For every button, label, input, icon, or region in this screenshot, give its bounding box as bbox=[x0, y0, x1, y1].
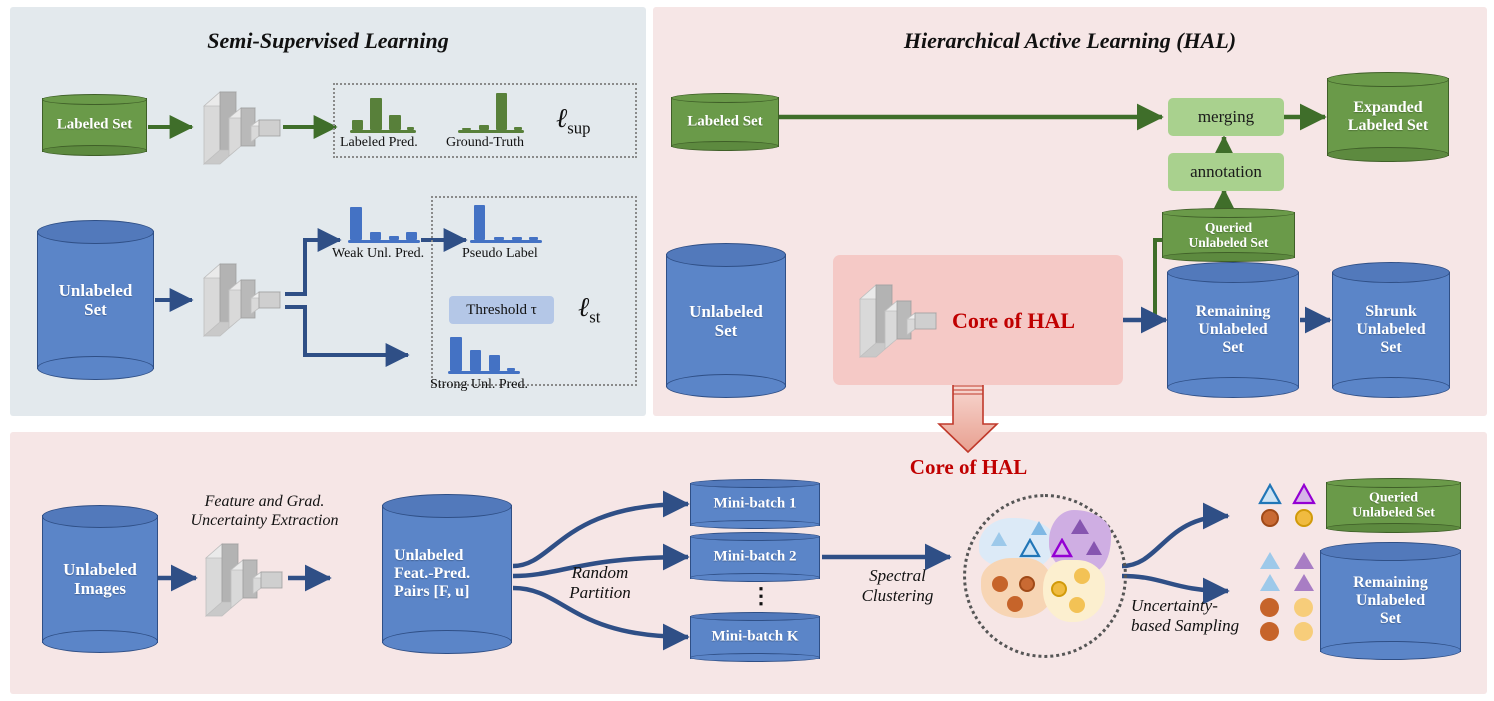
neural-network-icon bbox=[198, 540, 290, 620]
hal-labeled-set-label: Labeled Set bbox=[671, 114, 779, 131]
remaining-triangle-purple bbox=[1294, 574, 1314, 591]
cluster-circle-yellow bbox=[1069, 597, 1085, 613]
annotation-box[interactable]: annotation bbox=[1168, 153, 1284, 191]
loss-st-subscript: st bbox=[589, 307, 600, 326]
cluster-triangle-blue bbox=[991, 532, 1007, 546]
cylinder-top bbox=[690, 532, 820, 541]
cylinder-bottom bbox=[42, 630, 158, 653]
cylinder-top bbox=[1162, 208, 1295, 218]
cylinder-top bbox=[1332, 262, 1450, 283]
loss-sup-glyph: ℓ bbox=[556, 103, 567, 133]
cylinder-top bbox=[42, 94, 147, 105]
cylinder-bottom bbox=[690, 520, 820, 529]
shrunk-unlabeled-set-cylinder: Shrunk Unlabeled Set bbox=[1332, 262, 1450, 398]
remaining-circle-orange bbox=[1260, 598, 1279, 617]
expanded-labeled-set-cylinder: Expanded Labeled Set bbox=[1327, 72, 1449, 162]
cylinder-bottom bbox=[1326, 523, 1461, 533]
cluster-triangle-purple-outline bbox=[1051, 538, 1073, 558]
cylinder-top bbox=[1167, 262, 1299, 283]
mini-batch-1-cylinder: Mini-batch 1 bbox=[690, 479, 820, 529]
ssl-labeled-set-label: Labeled Set bbox=[42, 117, 147, 134]
remaining-symbol-group bbox=[1258, 552, 1320, 642]
cluster-circle-orange-highlight bbox=[1019, 576, 1035, 592]
core-of-hal-arrow-label: Core of HAL bbox=[886, 455, 1051, 480]
cylinder-bottom bbox=[1167, 377, 1299, 398]
random-partition-label: Random Partition bbox=[540, 563, 660, 604]
cylinder-top bbox=[42, 505, 158, 528]
mini-batch-k-cylinder: Mini-batch K bbox=[690, 612, 820, 662]
cylinder-top bbox=[690, 612, 820, 621]
remaining-circle-yellow bbox=[1294, 622, 1313, 641]
cylinder-top bbox=[690, 479, 820, 488]
ssl-labeled-set-cylinder: Labeled Set bbox=[42, 94, 147, 156]
mini-batch-k-label: Mini-batch K bbox=[690, 629, 820, 646]
self-training-loss-symbol: ℓst bbox=[578, 292, 600, 327]
remaining-unlabeled-set-cylinder: Remaining Unlabeled Set bbox=[1167, 262, 1299, 398]
strong-unlabeled-pred-barchart bbox=[448, 336, 520, 374]
cylinder-bottom bbox=[1162, 252, 1295, 262]
cluster-circle-orange bbox=[1007, 596, 1023, 612]
shrunk-unlabeled-set-label: Shrunk Unlabeled Set bbox=[1332, 303, 1450, 357]
cylinder-bottom bbox=[690, 653, 820, 662]
spectral-cluster-diagram bbox=[963, 494, 1121, 652]
cluster-circle-yellow bbox=[1074, 568, 1090, 584]
ground-truth-caption: Ground-Truth bbox=[446, 135, 524, 151]
cylinder-top bbox=[1326, 478, 1461, 488]
core-queried-unlabeled-set-label: Queried Unlabeled Set bbox=[1326, 490, 1461, 521]
neural-network-icon bbox=[852, 278, 944, 364]
spectral-clustering-label: Spectral Clustering bbox=[840, 566, 955, 607]
cylinder-bottom bbox=[1320, 641, 1461, 660]
cluster-circle-orange bbox=[992, 576, 1008, 592]
ground-truth-barchart bbox=[458, 93, 524, 133]
remaining-triangle-purple bbox=[1294, 552, 1314, 569]
cluster-triangle-purple bbox=[1071, 519, 1089, 534]
loss-st-glyph: ℓ bbox=[578, 292, 589, 322]
queried-unlabeled-set-cylinder: Queried Unlabeled Set bbox=[1162, 208, 1295, 262]
unlabeled-feat-pred-pairs-cylinder: Unlabeled Feat.-Pred. Pairs [F, u] bbox=[382, 494, 512, 654]
labeled-pred-barchart bbox=[350, 93, 416, 133]
weak-unlabeled-pred-barchart bbox=[348, 205, 420, 243]
cylinder-bottom bbox=[37, 356, 154, 380]
loss-sup-subscript: sup bbox=[567, 118, 590, 137]
mini-batch-2-label: Mini-batch 2 bbox=[690, 549, 820, 566]
uncertainty-based-sampling-label: Uncertainty- based Sampling bbox=[1131, 596, 1261, 637]
queried-triangle-purple bbox=[1292, 483, 1316, 505]
hal-panel-title: Hierarchical Active Learning (HAL) bbox=[653, 28, 1487, 54]
unlabeled-feat-pred-pairs-label: Unlabeled Feat.-Pred. Pairs [F, u] bbox=[382, 547, 512, 601]
cluster-triangle-purple bbox=[1086, 541, 1102, 555]
mini-batch-2-cylinder: Mini-batch 2 bbox=[690, 532, 820, 582]
cylinder-bottom bbox=[42, 145, 147, 156]
cylinder-bottom bbox=[382, 630, 512, 654]
core-queried-unlabeled-set-cylinder: Queried Unlabeled Set bbox=[1326, 478, 1461, 533]
strong-unlabeled-pred-caption: Strong Unl. Pred. bbox=[430, 377, 528, 393]
vertical-ellipsis: ⋮ bbox=[750, 583, 772, 609]
remaining-triangle-blue bbox=[1260, 574, 1280, 591]
cylinder-bottom bbox=[666, 374, 786, 398]
merging-box[interactable]: merging bbox=[1168, 98, 1284, 136]
cluster-triangle-blue bbox=[1031, 521, 1047, 535]
cylinder-top bbox=[666, 243, 786, 267]
pseudo-label-caption: Pseudo Label bbox=[462, 246, 538, 262]
labeled-pred-caption: Labeled Pred. bbox=[340, 135, 418, 151]
hal-labeled-set-cylinder: Labeled Set bbox=[671, 93, 779, 151]
cylinder-top bbox=[1320, 542, 1461, 561]
remaining-unlabeled-set-label: Remaining Unlabeled Set bbox=[1167, 303, 1299, 357]
mini-batch-1-label: Mini-batch 1 bbox=[690, 496, 820, 513]
cylinder-bottom bbox=[1327, 147, 1449, 162]
cluster-circle-yellow-highlight bbox=[1051, 581, 1067, 597]
remaining-circle-orange bbox=[1260, 622, 1279, 641]
supervised-loss-symbol: ℓsup bbox=[556, 103, 591, 138]
queried-symbol-group bbox=[1258, 483, 1320, 533]
ssl-panel-title: Semi-Supervised Learning bbox=[10, 28, 646, 54]
cylinder-top bbox=[671, 93, 779, 103]
cylinder-top bbox=[1327, 72, 1449, 87]
unlabeled-images-cylinder: Unlabeled Images bbox=[42, 505, 158, 653]
cylinder-bottom bbox=[671, 141, 779, 151]
queried-triangle-blue bbox=[1258, 483, 1282, 505]
ssl-unlabeled-set-label: Unlabeled Set bbox=[37, 281, 154, 319]
neural-network-icon bbox=[196, 88, 288, 168]
queried-circle-yellow bbox=[1295, 509, 1313, 527]
remaining-triangle-blue bbox=[1260, 552, 1280, 569]
core-remaining-unlabeled-set-label: Remaining Unlabeled Set bbox=[1320, 574, 1461, 628]
hal-unlabeled-set-cylinder: Unlabeled Set bbox=[666, 243, 786, 398]
hal-unlabeled-set-label: Unlabeled Set bbox=[666, 301, 786, 339]
pseudo-label-barchart bbox=[470, 205, 542, 243]
queried-circle-orange bbox=[1261, 509, 1279, 527]
threshold-box[interactable]: Threshold τ bbox=[449, 296, 554, 324]
cylinder-bottom bbox=[1332, 377, 1450, 398]
feature-grad-extraction-label: Feature and Grad. Uncertainty Extraction bbox=[172, 492, 357, 530]
cluster-triangle-blue-outline bbox=[1019, 538, 1041, 558]
expanded-labeled-set-label: Expanded Labeled Set bbox=[1327, 99, 1449, 135]
queried-unlabeled-set-label: Queried Unlabeled Set bbox=[1162, 220, 1295, 250]
remaining-circle-yellow bbox=[1294, 598, 1313, 617]
core-of-hal-inner-label: Core of HAL bbox=[952, 308, 1075, 334]
neural-network-icon bbox=[196, 260, 288, 340]
ssl-unlabeled-set-cylinder: Unlabeled Set bbox=[37, 220, 154, 380]
unlabeled-images-label: Unlabeled Images bbox=[42, 560, 158, 598]
cylinder-bottom bbox=[690, 573, 820, 582]
core-remaining-unlabeled-set-cylinder: Remaining Unlabeled Set bbox=[1320, 542, 1461, 660]
weak-unlabeled-pred-caption: Weak Unl. Pred. bbox=[332, 246, 424, 262]
